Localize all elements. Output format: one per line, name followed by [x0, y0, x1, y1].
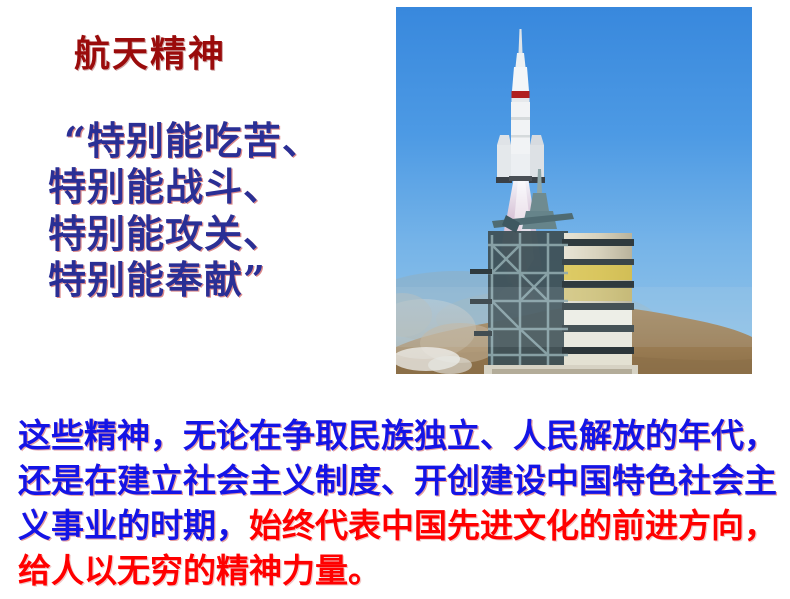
quote-block: “特别能吃苦、 特别能战斗、 特别能攻关、 特别能奉献” [48, 118, 388, 303]
slide-canvas: 航天精神 “特别能吃苦、 特别能战斗、 特别能攻关、 特别能奉献” 这些精神，无… [0, 0, 790, 599]
rocket-launch-photo [396, 7, 752, 374]
quote-line-4: 特别能奉献” [48, 257, 388, 303]
slide-heading: 航天精神 [74, 36, 226, 72]
quote-line-1: “特别能吃苦、 [48, 118, 388, 164]
rocket-launch-illustration [396, 7, 752, 374]
quote-line-3: 特别能攻关、 [48, 211, 388, 257]
body-paragraph: 这些精神，无论在争取民族独立、人民解放的年代，还是在建立社会主义制度、开创建设中… [18, 414, 778, 594]
quote-line-2: 特别能战斗、 [48, 164, 388, 210]
